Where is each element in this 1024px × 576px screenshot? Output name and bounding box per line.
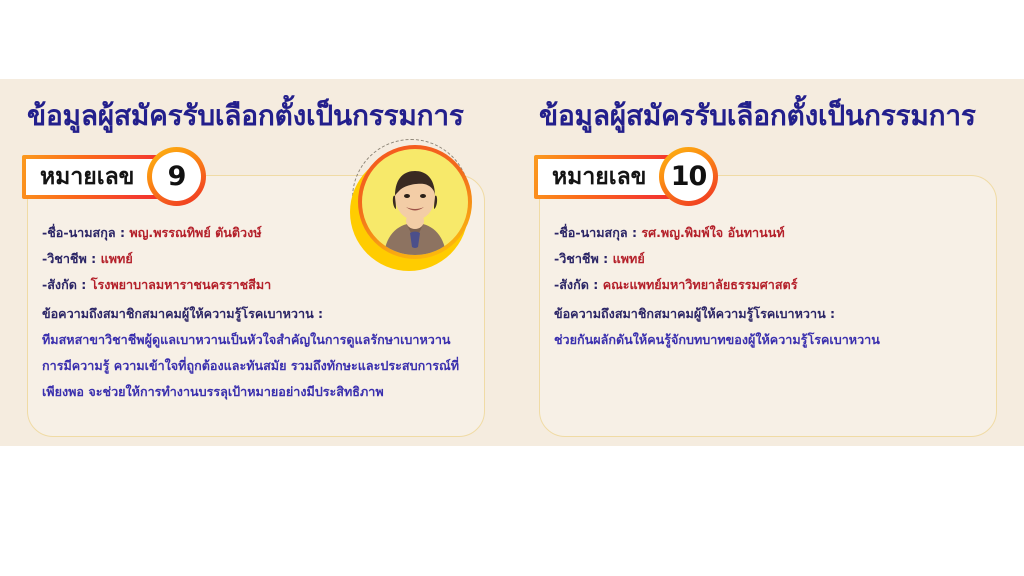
info-row-name: -ชื่อ-นามสกุล : พญ.พรรณทิพย์ ตันติวงษ์ <box>42 220 372 246</box>
info-label-name: -ชื่อ-นามสกุล : <box>42 225 125 240</box>
badge-circle-disc: 9 <box>152 152 201 201</box>
candidate-card-9: ข้อมูลผู้สมัครรับเลือกตั้งเป็นกรรมการ หม… <box>0 79 512 446</box>
badge-label: หมายเลข <box>552 166 646 189</box>
info-label-profession: -วิชาชีพ : <box>42 251 96 266</box>
page-title: ข้อมูลผู้สมัครรับเลือกตั้งเป็นกรรมการ <box>539 101 1009 132</box>
candidate-number: 10 <box>671 163 707 190</box>
message-heading: ข้อความถึงสมาชิกสมาคมผู้ให้ความรู้โรคเบา… <box>554 301 835 327</box>
badge-circle-disc: 10 <box>664 152 713 201</box>
candidate-card-10: ข้อมูลผู้สมัครรับเลือกตั้งเป็นกรรมการ หม… <box>512 79 1024 446</box>
candidate-number: 9 <box>168 163 186 190</box>
info-value-name: รศ.พญ.พิมพ์ใจ อันทานนท์ <box>641 225 784 240</box>
message-heading: ข้อความถึงสมาชิกสมาคมผู้ให้ความรู้โรคเบา… <box>42 301 323 327</box>
message-line: ช่วยกันผลักดันให้คนรู้จักบทบาทของผู้ให้ค… <box>554 327 974 353</box>
message-line: เพียงพอ จะช่วยให้การทำงานบรรลุเป้าหมายอย… <box>42 379 462 405</box>
info-value-profession: แพทย์ <box>101 251 133 266</box>
info-value-name: พญ.พรรณทิพย์ ตันติวงษ์ <box>129 225 261 240</box>
message-body: ทีมสหสาขาวิชาชีพผู้ดูแลเบาหวานเป็นหัวใจส… <box>42 327 462 405</box>
info-value-affiliation: คณะแพทย์มหาวิทยาลัยธรรมศาสตร์ <box>603 277 798 292</box>
candidate-info-list: -ชื่อ-นามสกุล : พญ.พรรณทิพย์ ตันติวงษ์ -… <box>42 220 372 298</box>
message-body: ช่วยกันผลักดันให้คนรู้จักบทบาทของผู้ให้ค… <box>554 327 974 353</box>
info-label-affiliation: -สังกัด : <box>42 277 86 292</box>
candidate-info-list: -ชื่อ-นามสกุล : รศ.พญ.พิมพ์ใจ อันทานนท์ … <box>554 220 884 298</box>
message-line: การมีความรู้ ความเข้าใจที่ถูกต้องและทันส… <box>42 353 462 379</box>
slide-root: ข้อมูลผู้สมัครรับเลือกตั้งเป็นกรรมการ หม… <box>0 0 1024 576</box>
candidate-number-circle: 9 <box>147 147 206 206</box>
info-row-profession: -วิชาชีพ : แพทย์ <box>42 246 372 272</box>
info-row-profession: -วิชาชีพ : แพทย์ <box>554 246 884 272</box>
info-label-affiliation: -สังกัด : <box>554 277 598 292</box>
info-value-profession: แพทย์ <box>613 251 645 266</box>
info-row-affiliation: -สังกัด : คณะแพทย์มหาวิทยาลัยธรรมศาสตร์ <box>554 272 884 298</box>
info-label-profession: -วิชาชีพ : <box>554 251 608 266</box>
info-label-name: -ชื่อ-นามสกุล : <box>554 225 637 240</box>
info-row-name: -ชื่อ-นามสกุล : รศ.พญ.พิมพ์ใจ อันทานนท์ <box>554 220 884 246</box>
info-value-affiliation: โรงพยาบาลมหาราชนครราชสีมา <box>91 277 272 292</box>
badge-label: หมายเลข <box>40 166 134 189</box>
candidate-photo-9 <box>362 149 468 255</box>
info-row-affiliation: -สังกัด : โรงพยาบาลมหาราชนครราชสีมา <box>42 272 372 298</box>
candidate-photo-medallion <box>350 137 478 279</box>
message-line: ทีมสหสาขาวิชาชีพผู้ดูแลเบาหวานเป็นหัวใจส… <box>42 327 462 353</box>
page-title: ข้อมูลผู้สมัครรับเลือกตั้งเป็นกรรมการ <box>27 101 497 132</box>
candidate-number-circle: 10 <box>659 147 718 206</box>
